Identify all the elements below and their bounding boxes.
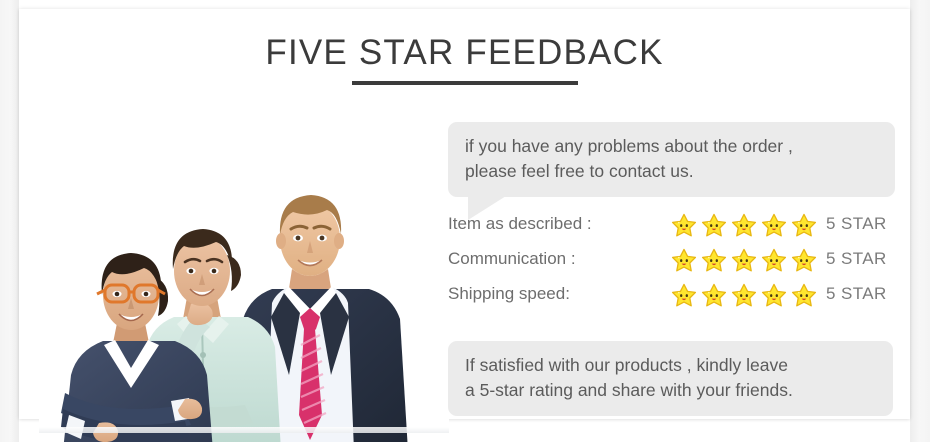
star-icon — [790, 282, 818, 310]
ratings-list: Item as described : 5 STAR Communication… — [448, 212, 908, 317]
star-rating-item-as-described — [670, 212, 818, 240]
rating-value: 5 STAR — [826, 214, 887, 234]
star-icon — [700, 212, 728, 240]
person-woman-mint-shirt — [140, 229, 281, 442]
star-icon — [760, 212, 788, 240]
star-icon — [670, 212, 698, 240]
rating-row-communication: Communication : 5 STAR — [448, 247, 908, 282]
rating-label: Communication : — [448, 249, 576, 269]
star-icon — [760, 247, 788, 275]
person-man-in-suit — [233, 195, 408, 442]
right-gutter — [910, 0, 930, 442]
star-icon — [700, 282, 728, 310]
star-icon — [760, 282, 788, 310]
star-icon — [730, 282, 758, 310]
person-woman-with-glasses — [61, 253, 213, 442]
leave-rating-line-2: a 5-star rating and share with your frie… — [465, 378, 877, 403]
leave-rating-bubble: If satisfied with our products , kindly … — [448, 341, 893, 416]
star-icon — [700, 247, 728, 275]
star-icon — [670, 282, 698, 310]
rating-value: 5 STAR — [826, 284, 887, 304]
feedback-card: FIVE STAR FEEDBACK — [19, 9, 910, 419]
rating-row-item-as-described: Item as described : 5 STAR — [448, 212, 908, 247]
rating-row-shipping-speed: Shipping speed: 5 STAR — [448, 282, 908, 317]
star-icon — [730, 247, 758, 275]
star-icon — [790, 212, 818, 240]
left-gutter — [0, 0, 19, 442]
contact-us-line-2: please feel free to contact us. — [465, 159, 879, 184]
contact-us-bubble: if you have any problems about the order… — [448, 122, 895, 197]
rating-value: 5 STAR — [826, 249, 887, 269]
page-title: FIVE STAR FEEDBACK — [19, 34, 910, 72]
star-icon — [670, 247, 698, 275]
feedback-banner: FIVE STAR FEEDBACK — [0, 0, 930, 442]
rating-label: Item as described : — [448, 214, 592, 234]
title-underline-rule — [352, 81, 578, 85]
star-icon — [790, 247, 818, 275]
title-block: FIVE STAR FEEDBACK — [19, 34, 910, 85]
rating-label: Shipping speed: — [448, 284, 570, 304]
star-rating-shipping-speed — [670, 282, 818, 310]
leave-rating-line-1: If satisfied with our products , kindly … — [465, 353, 877, 378]
contact-us-line-1: if you have any problems about the order… — [465, 134, 879, 159]
team-photo — [39, 177, 449, 442]
star-icon — [730, 212, 758, 240]
star-rating-communication — [670, 247, 818, 275]
